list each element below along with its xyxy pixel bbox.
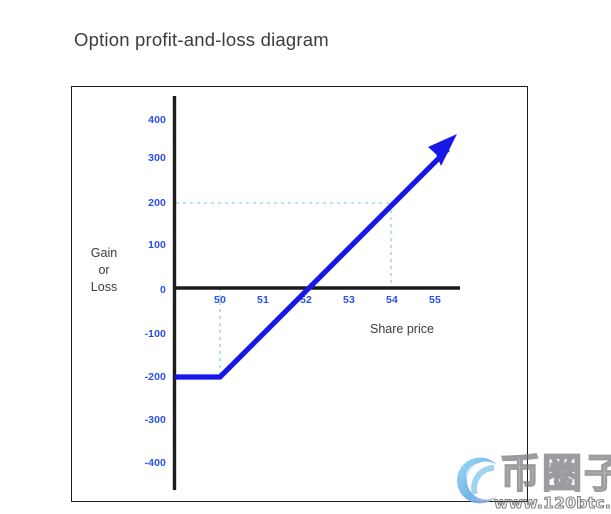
plot-area <box>0 0 611 514</box>
page-root: Option profit-and-loss diagram Gain or L… <box>0 0 611 514</box>
payoff-line <box>175 149 448 377</box>
